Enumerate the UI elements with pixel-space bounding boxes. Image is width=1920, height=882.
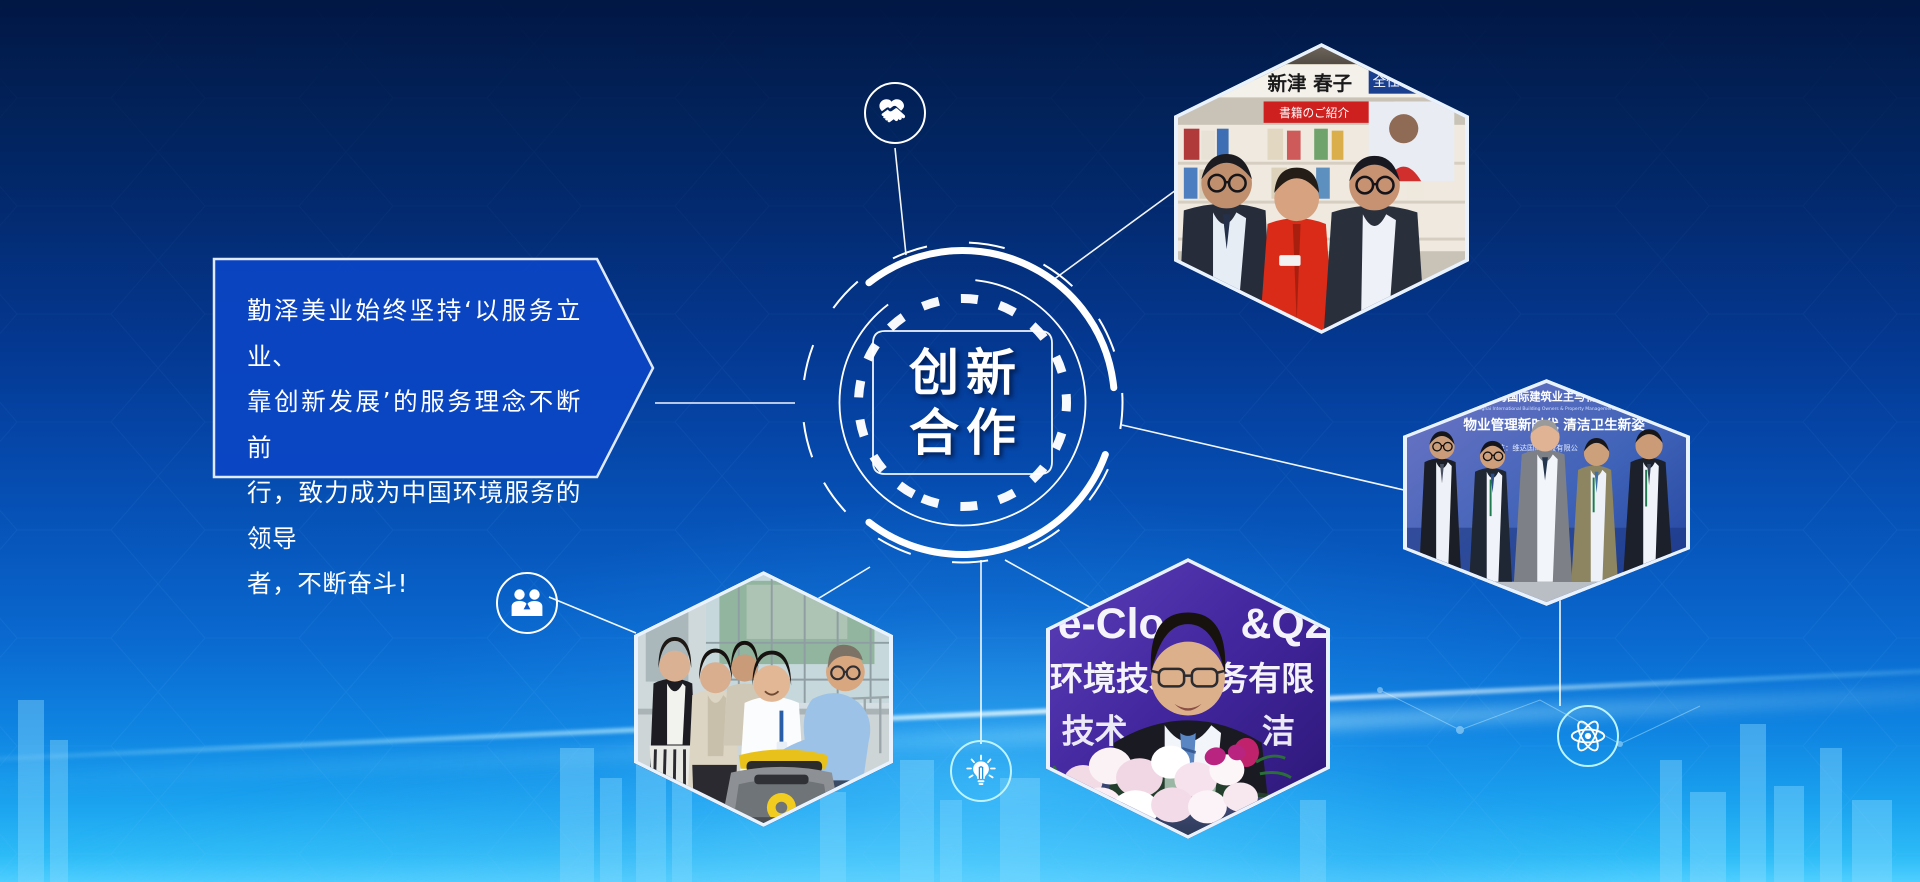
lightbulb-icon (964, 754, 998, 788)
two-people-icon (510, 588, 544, 618)
photo-conference-image: 2019上海国际建筑业主与物业管理产业创新发 2019 Shanghai Int… (1407, 383, 1686, 602)
atom-badge[interactable]: 科技 (1557, 705, 1619, 767)
handshake-badge[interactable]: 合作共赢 (864, 82, 926, 144)
photo-bookstore-caption: 新津 春子 全仕事 (1174, 43, 1175, 44)
photo-bookstore-image: 新津 春子 全仕事 書籍のご紹介 (1178, 47, 1465, 330)
connector-hub-to-conference (1122, 425, 1404, 490)
svg-text:書籍のご紹介: 書籍のご紹介 (1279, 106, 1349, 120)
banner-stage: 创新 合作 勤泽美业始终坚持‘以服务立业、 靠创新发展’的服务理念不断前 行，致… (0, 0, 1920, 882)
atom-icon (1570, 718, 1606, 754)
svg-text:e-Clo: e-Clo (1058, 600, 1165, 648)
svg-text:洁: 洁 (1262, 712, 1295, 751)
slogan-line-1: 勤泽美业始终坚持‘以服务立业、 (247, 288, 581, 379)
photo-conference[interactable]: 2019上海国际建筑业主与物业管理产业创新发 2019 Shanghai Int… (1403, 379, 1690, 606)
photo-training-caption: 洗地机操作培训现场 (634, 571, 635, 572)
svg-text:新津 春子: 新津 春子 (1268, 72, 1353, 95)
emblem-title: 创新 合作 (795, 235, 1130, 570)
slogan-text: 勤泽美业始终坚持‘以服务立业、 靠创新发展’的服务理念不断前 行，致力成为中国环… (247, 288, 581, 607)
svg-text:2019 Shanghai International Bu: 2019 Shanghai International Building Own… (1458, 406, 1682, 412)
people-badge[interactable]: 团队 (496, 572, 558, 634)
emblem-title-line2: 合作 (902, 406, 1023, 460)
slogan-callout: 勤泽美业始终坚持‘以服务立业、 靠创新发展’的服务理念不断前 行，致力成为中国环… (212, 257, 655, 479)
slogan-line-2: 靠创新发展’的服务理念不断前 (247, 379, 581, 470)
idea-badge[interactable]: 创意 (950, 740, 1012, 802)
photo-conference-caption: 物业管理新时代 清洁卫生新姿 (1403, 379, 1404, 380)
handshake-heart-icon (878, 98, 912, 128)
slogan-line-3: 行，致力成为中国环境服务的领导 (247, 470, 581, 561)
photo-bookstore[interactable]: 新津 春子 全仕事 書籍のご紹介 (1174, 43, 1469, 334)
emblem-title-line1: 创新 (902, 346, 1023, 400)
central-emblem: 创新 合作 (795, 235, 1130, 570)
